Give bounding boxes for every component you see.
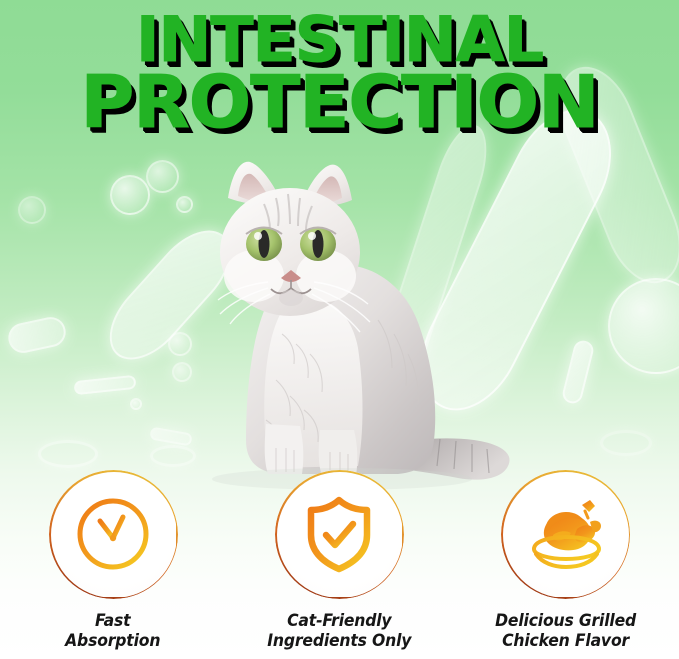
feature-label: Fast Absorption (66, 611, 161, 651)
bacteria-cocci (176, 196, 193, 213)
roast-chicken-icon (520, 491, 612, 577)
bacteria-cocci (172, 362, 192, 382)
feature-icon-badge (501, 470, 630, 599)
feature-list: Fast Absorption (0, 470, 679, 651)
feature-label-line-1: Cat-Friendly (267, 611, 411, 631)
bacteria-rod (6, 314, 69, 355)
bacteria-cocci (146, 160, 179, 193)
feature-chicken-flavor[interactable]: Delicious Grilled Chicken Flavor (458, 470, 673, 651)
feature-icon-badge (275, 470, 404, 599)
bacteria-cocci (168, 332, 192, 356)
bacteria-ring (38, 440, 98, 468)
feature-icon-badge (49, 470, 178, 599)
feature-label-line-1: Delicious Grilled (495, 611, 636, 631)
bacteria-cocci (110, 175, 150, 215)
cat-hero-image (192, 148, 522, 493)
bacteria-ring (150, 445, 196, 467)
bacteria-rod (561, 339, 596, 406)
title-line-2: PROTECTION (0, 68, 679, 137)
bacteria-rod (73, 375, 136, 395)
clock-icon (70, 491, 156, 577)
bacteria-ring (600, 430, 652, 456)
bacteria-cocci (130, 398, 142, 410)
product-feature-poster: INTESTINAL PROTECTION (0, 0, 679, 659)
feature-label-line-2: Absorption (66, 631, 161, 651)
bacteria-cocci (608, 278, 679, 374)
feature-cat-friendly-ingredients[interactable]: Cat-Friendly Ingredients Only (232, 470, 447, 651)
poster-title: INTESTINAL PROTECTION (0, 10, 679, 137)
feature-label: Cat-Friendly Ingredients Only (267, 611, 411, 651)
bacteria-cocci (18, 196, 46, 224)
cat-eye-right (300, 227, 336, 261)
bacteria-rod (149, 426, 193, 446)
feature-label: Delicious Grilled Chicken Flavor (495, 611, 636, 651)
feature-label-line-2: Ingredients Only (267, 631, 411, 651)
feature-label-line-2: Chicken Flavor (495, 631, 636, 651)
feature-label-line-1: Fast (66, 611, 161, 631)
feature-fast-absorption[interactable]: Fast Absorption (6, 470, 221, 651)
shield-check-icon (296, 491, 382, 577)
cat-eye-left (246, 227, 282, 261)
